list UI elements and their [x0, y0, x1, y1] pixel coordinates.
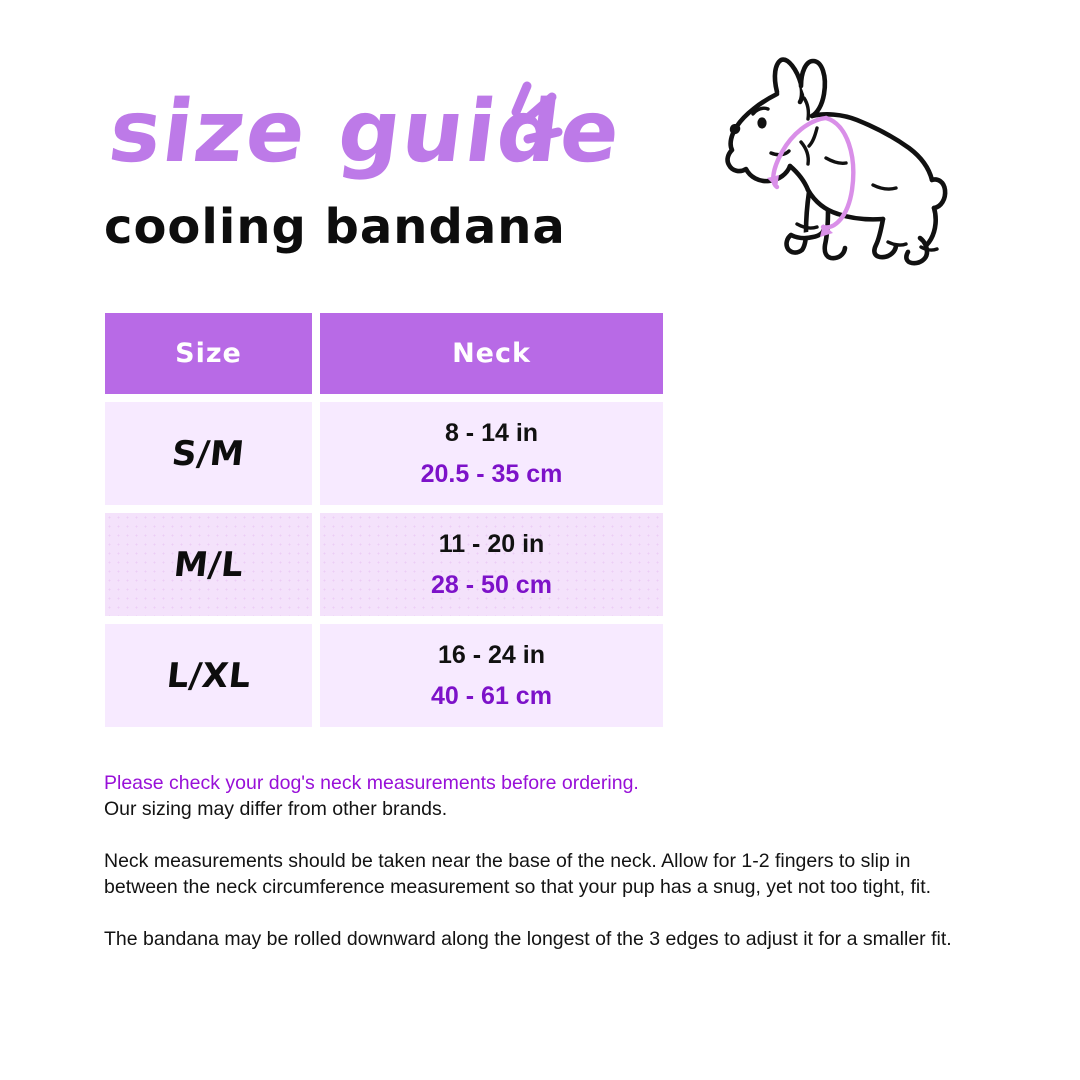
neck-centimeters-value: 28 - 50 cm [431, 568, 552, 602]
notes-section: Please check your dog's neck measurement… [104, 770, 976, 952]
size-table: Size Neck S/M 8 - 14 in 20.5 - 35 cm M/L… [105, 313, 663, 727]
cell-size: M/L [105, 513, 312, 616]
column-header-neck: Neck [320, 313, 663, 394]
title-row: size guide [104, 84, 704, 192]
column-header-neck-label: Neck [452, 338, 531, 369]
heading-block: size guide cooling bandana [104, 84, 704, 256]
notes-spacer [104, 822, 976, 848]
note-measuring-paragraph: Neck measurements should be taken near t… [104, 848, 976, 900]
page-title: size guide [104, 84, 716, 180]
note-rolling-paragraph: The bandana may be rolled downward along… [104, 926, 976, 952]
cell-neck: 16 - 24 in 40 - 61 cm [320, 624, 663, 727]
size-label: S/M [170, 434, 246, 474]
size-label: M/L [172, 545, 246, 585]
notes-spacer [104, 900, 976, 926]
cell-size: S/M [105, 402, 312, 505]
neck-inches-value: 16 - 24 in [438, 638, 545, 672]
table-row: L/XL 16 - 24 in 40 - 61 cm [105, 624, 663, 727]
size-label: L/XL [164, 656, 252, 696]
table-row: M/L 11 - 20 in 28 - 50 cm [105, 513, 663, 616]
table-row: S/M 8 - 14 in 20.5 - 35 cm [105, 402, 663, 505]
cell-size: L/XL [105, 624, 312, 727]
neck-centimeters-value: 40 - 61 cm [431, 679, 552, 713]
french-bulldog-outline-icon [705, 50, 960, 275]
cell-neck: 11 - 20 in 28 - 50 cm [320, 513, 663, 616]
note-secondary-line: Our sizing may differ from other brands. [104, 796, 976, 822]
column-header-size: Size [105, 313, 312, 394]
sparkle-lines-icon [496, 78, 572, 158]
column-header-size-label: Size [175, 338, 242, 369]
page-subtitle: cooling bandana [104, 198, 704, 256]
size-guide-page: size guide cooling bandana [0, 0, 1080, 1080]
neck-inches-value: 11 - 20 in [439, 527, 545, 561]
table-header-row: Size Neck [105, 313, 663, 394]
cell-neck: 8 - 14 in 20.5 - 35 cm [320, 402, 663, 505]
neck-inches-value: 8 - 14 in [445, 416, 538, 450]
note-emphasis-line: Please check your dog's neck measurement… [104, 770, 976, 796]
neck-centimeters-value: 20.5 - 35 cm [421, 457, 563, 491]
